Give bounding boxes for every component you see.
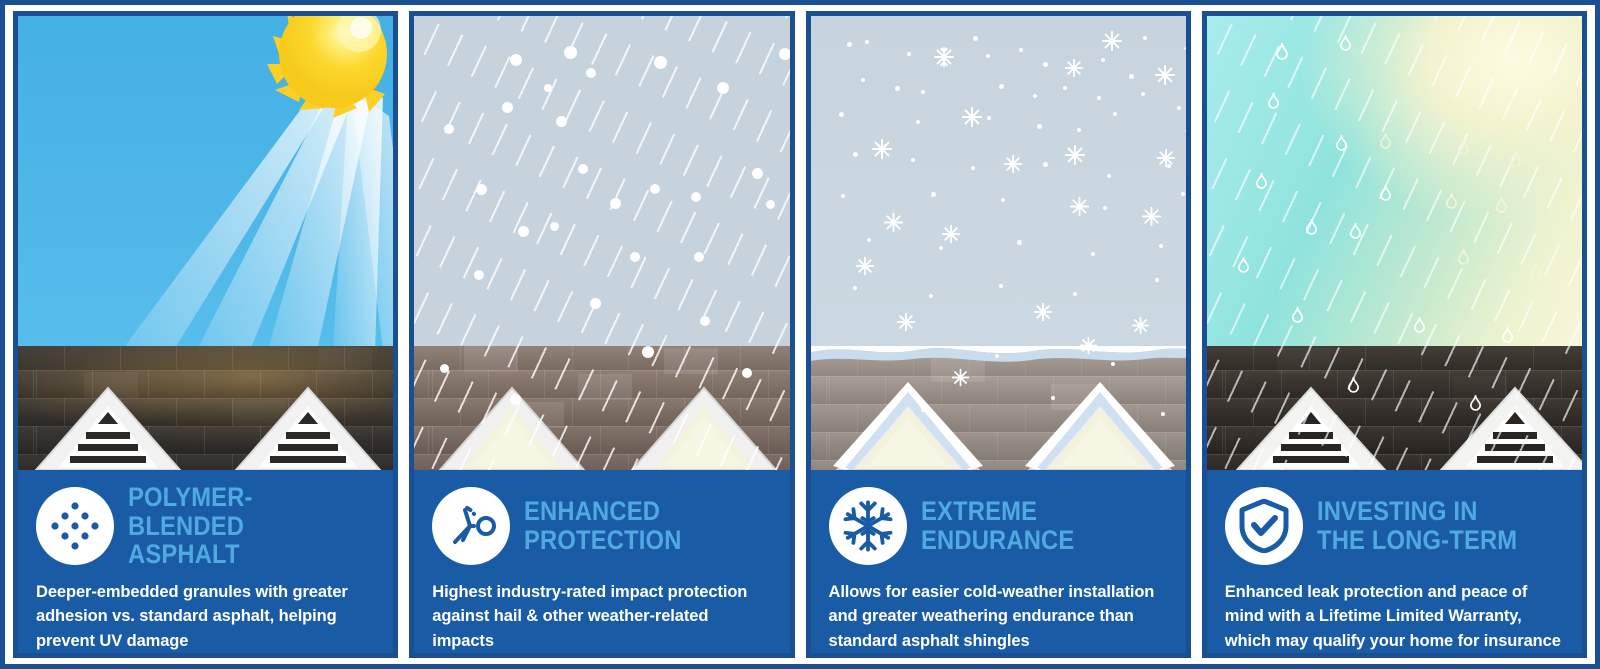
- dormer-left-icon: [438, 386, 586, 470]
- sky-hail: [414, 16, 789, 346]
- snowflake-icon: [829, 487, 907, 565]
- panel-description: Highest industry-rated impact protection…: [432, 580, 771, 653]
- caption-header: EXTREME ENDURANCE: [829, 484, 1168, 568]
- sky-sunny: [18, 16, 393, 346]
- caption-header: ENHANCED PROTECTION: [432, 484, 771, 568]
- panel-row: POLYMER-BLENDED ASPHALT Deeper-embedded …: [13, 11, 1587, 658]
- panel-description: Enhanced leak protection and peace of mi…: [1225, 580, 1564, 658]
- scene-hail-storm-brown-roof: [414, 16, 789, 470]
- dormer-left-icon: [1235, 386, 1387, 470]
- panel-description: Deeper-embedded granules with greater ad…: [36, 580, 375, 653]
- roof-brown-shingles: [414, 346, 789, 470]
- dormer-left-icon: [833, 380, 983, 470]
- granule-dots-icon: [36, 487, 114, 565]
- panel-title: POLYMER-BLENDED ASPHALT: [128, 483, 346, 570]
- panel-enhanced-protection[interactable]: ENHANCED PROTECTION Highest industry-rat…: [409, 11, 794, 658]
- sun-icon: [259, 16, 393, 138]
- caption-investing-in-the-long-term: INVESTING IN THE LONG-TERM Enhanced leak…: [1207, 470, 1582, 658]
- snow-ridge: [811, 346, 1186, 366]
- shield-check-icon: [1225, 487, 1303, 565]
- caption-enhanced-protection: ENHANCED PROTECTION Highest industry-rat…: [414, 470, 789, 658]
- caption-header: INVESTING IN THE LONG-TERM: [1225, 484, 1564, 568]
- dormer-right-icon: [1439, 386, 1582, 470]
- scene-rain-with-sun-dark-roof: [1207, 16, 1582, 470]
- caption-polymer-blended-asphalt: POLYMER-BLENDED ASPHALT Deeper-embedded …: [18, 470, 393, 658]
- benefits-infographic: POLYMER-BLENDED ASPHALT Deeper-embedded …: [0, 0, 1600, 669]
- roof-dark-shingles: [18, 346, 393, 470]
- caption-header: POLYMER-BLENDED ASPHALT: [36, 484, 375, 568]
- scene-snow-storm-grey-roof: [811, 16, 1186, 470]
- panel-title: INVESTING IN THE LONG-TERM: [1317, 497, 1517, 555]
- roof-verydark-shingles: [1207, 346, 1582, 470]
- panel-description: Allows for easier cold-weather installat…: [829, 580, 1168, 653]
- dormer-right-icon: [234, 386, 382, 470]
- panel-polymer-blended-asphalt[interactable]: POLYMER-BLENDED ASPHALT Deeper-embedded …: [13, 11, 398, 658]
- dormer-left-icon: [34, 386, 182, 470]
- sky-warranty: [1207, 16, 1582, 346]
- sky-snow: [811, 16, 1186, 346]
- panel-extreme-endurance[interactable]: EXTREME ENDURANCE Allows for easier cold…: [806, 11, 1191, 658]
- dormer-right-icon: [1025, 380, 1175, 470]
- caption-extreme-endurance: EXTREME ENDURANCE Allows for easier cold…: [811, 470, 1186, 658]
- scene-sunny-sky-dark-roof: [18, 16, 393, 470]
- roof-grey-shingles: [811, 346, 1186, 470]
- panel-investing-in-the-long-term[interactable]: INVESTING IN THE LONG-TERM Enhanced leak…: [1202, 11, 1587, 658]
- panel-title: ENHANCED PROTECTION: [524, 497, 682, 555]
- dormer-right-icon: [630, 386, 778, 470]
- hail-impact-icon: [432, 487, 510, 565]
- panel-title: EXTREME ENDURANCE: [921, 497, 1074, 555]
